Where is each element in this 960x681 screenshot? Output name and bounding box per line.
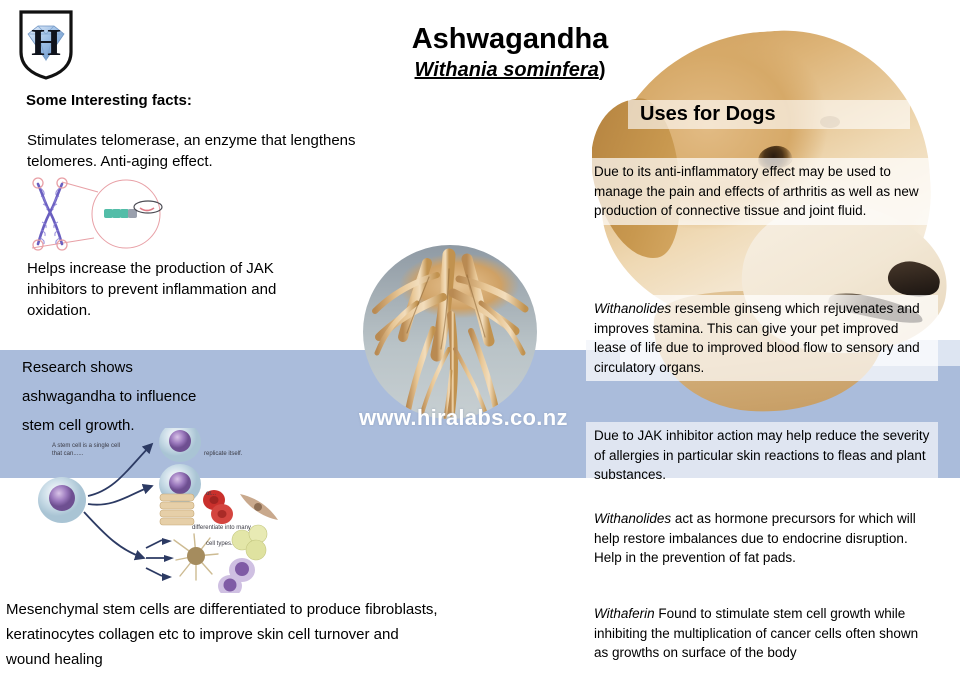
ashwagandha-root-photo [363, 245, 537, 419]
watermark: www.hiralabs.co.nz [359, 405, 568, 431]
arrowheads [162, 538, 174, 581]
research-line-1: Research shows [22, 353, 272, 382]
chromosome-telomere-illustration [22, 176, 172, 257]
stem-diagram-source-label: A stem cell is a single cell that can...… [52, 442, 124, 458]
poster-title-block: Ashwagandha Withania sominfera) [300, 22, 720, 83]
right-paragraph-4-lead: Withanolides [594, 511, 671, 526]
research-line-2: ashwagandha to influence [22, 382, 272, 411]
stem-diagram-or-label: or... [206, 490, 216, 498]
logo-letter-h: H [31, 22, 61, 64]
chromosome-icon [22, 176, 172, 252]
parent-stem-cell [38, 477, 86, 523]
right-paragraph-hormone: Withanolides act as hormone precursors f… [586, 505, 938, 572]
stem-diagram-differentiate-label-1: differentiate into many [192, 524, 251, 532]
diagram-arrows [84, 444, 164, 576]
shield-icon: H [16, 8, 76, 80]
right-paragraph-ginseng: Withanolides resemble ginseng which reju… [586, 295, 938, 381]
stem-diagram-differentiate-label-2: cell types. [206, 540, 233, 548]
right-paragraph-withaferin: Withaferin Found to stimulate stem cell … [586, 600, 938, 667]
telomere-zoom-detail [104, 201, 162, 218]
right-section-heading: Uses for Dogs [628, 100, 910, 129]
right-paragraph-1-text: Due to its anti-inflammatory effect may … [594, 164, 919, 218]
right-paragraph-5-lead: Withaferin [594, 606, 655, 621]
stem-diagram-replicate-label: replicate itself. [204, 450, 242, 458]
right-paragraph-2-lead: Withanolides [594, 301, 671, 316]
page-subtitle-paren: ) [599, 59, 606, 81]
left-fact-telomerase: Stimulates telomerase, an enzyme that le… [27, 130, 367, 172]
right-paragraph-arthritis: Due to its anti-inflammatory effect may … [586, 158, 938, 225]
left-bottom-paragraph: Mesenchymal stem cells are differentiate… [6, 597, 446, 672]
right-paragraph-allergies: Due to JAK inhibitor action may help red… [586, 422, 938, 489]
page-subtitle: Withania sominfera) [300, 57, 720, 83]
hira-labs-shield-logo: H [16, 8, 76, 85]
research-line-3: stem cell growth. [22, 411, 272, 440]
left-fact-jak-inhibitors: Helps increase the production of JAK inh… [27, 258, 327, 321]
stem-cell-differentiation-diagram: A stem cell is a single cell that can...… [34, 428, 294, 598]
page-subtitle-latin-name: Withania sominfera [415, 59, 599, 81]
page-title: Ashwagandha [300, 22, 720, 56]
poster-canvas: H [0, 0, 960, 681]
root-strands-illustration [363, 245, 537, 419]
left-section-heading: Some Interesting facts: [26, 92, 192, 109]
right-paragraph-3-text: Due to JAK inhibitor action may help red… [594, 428, 929, 482]
left-research-block: Research shows ashwagandha to influence … [22, 353, 272, 440]
